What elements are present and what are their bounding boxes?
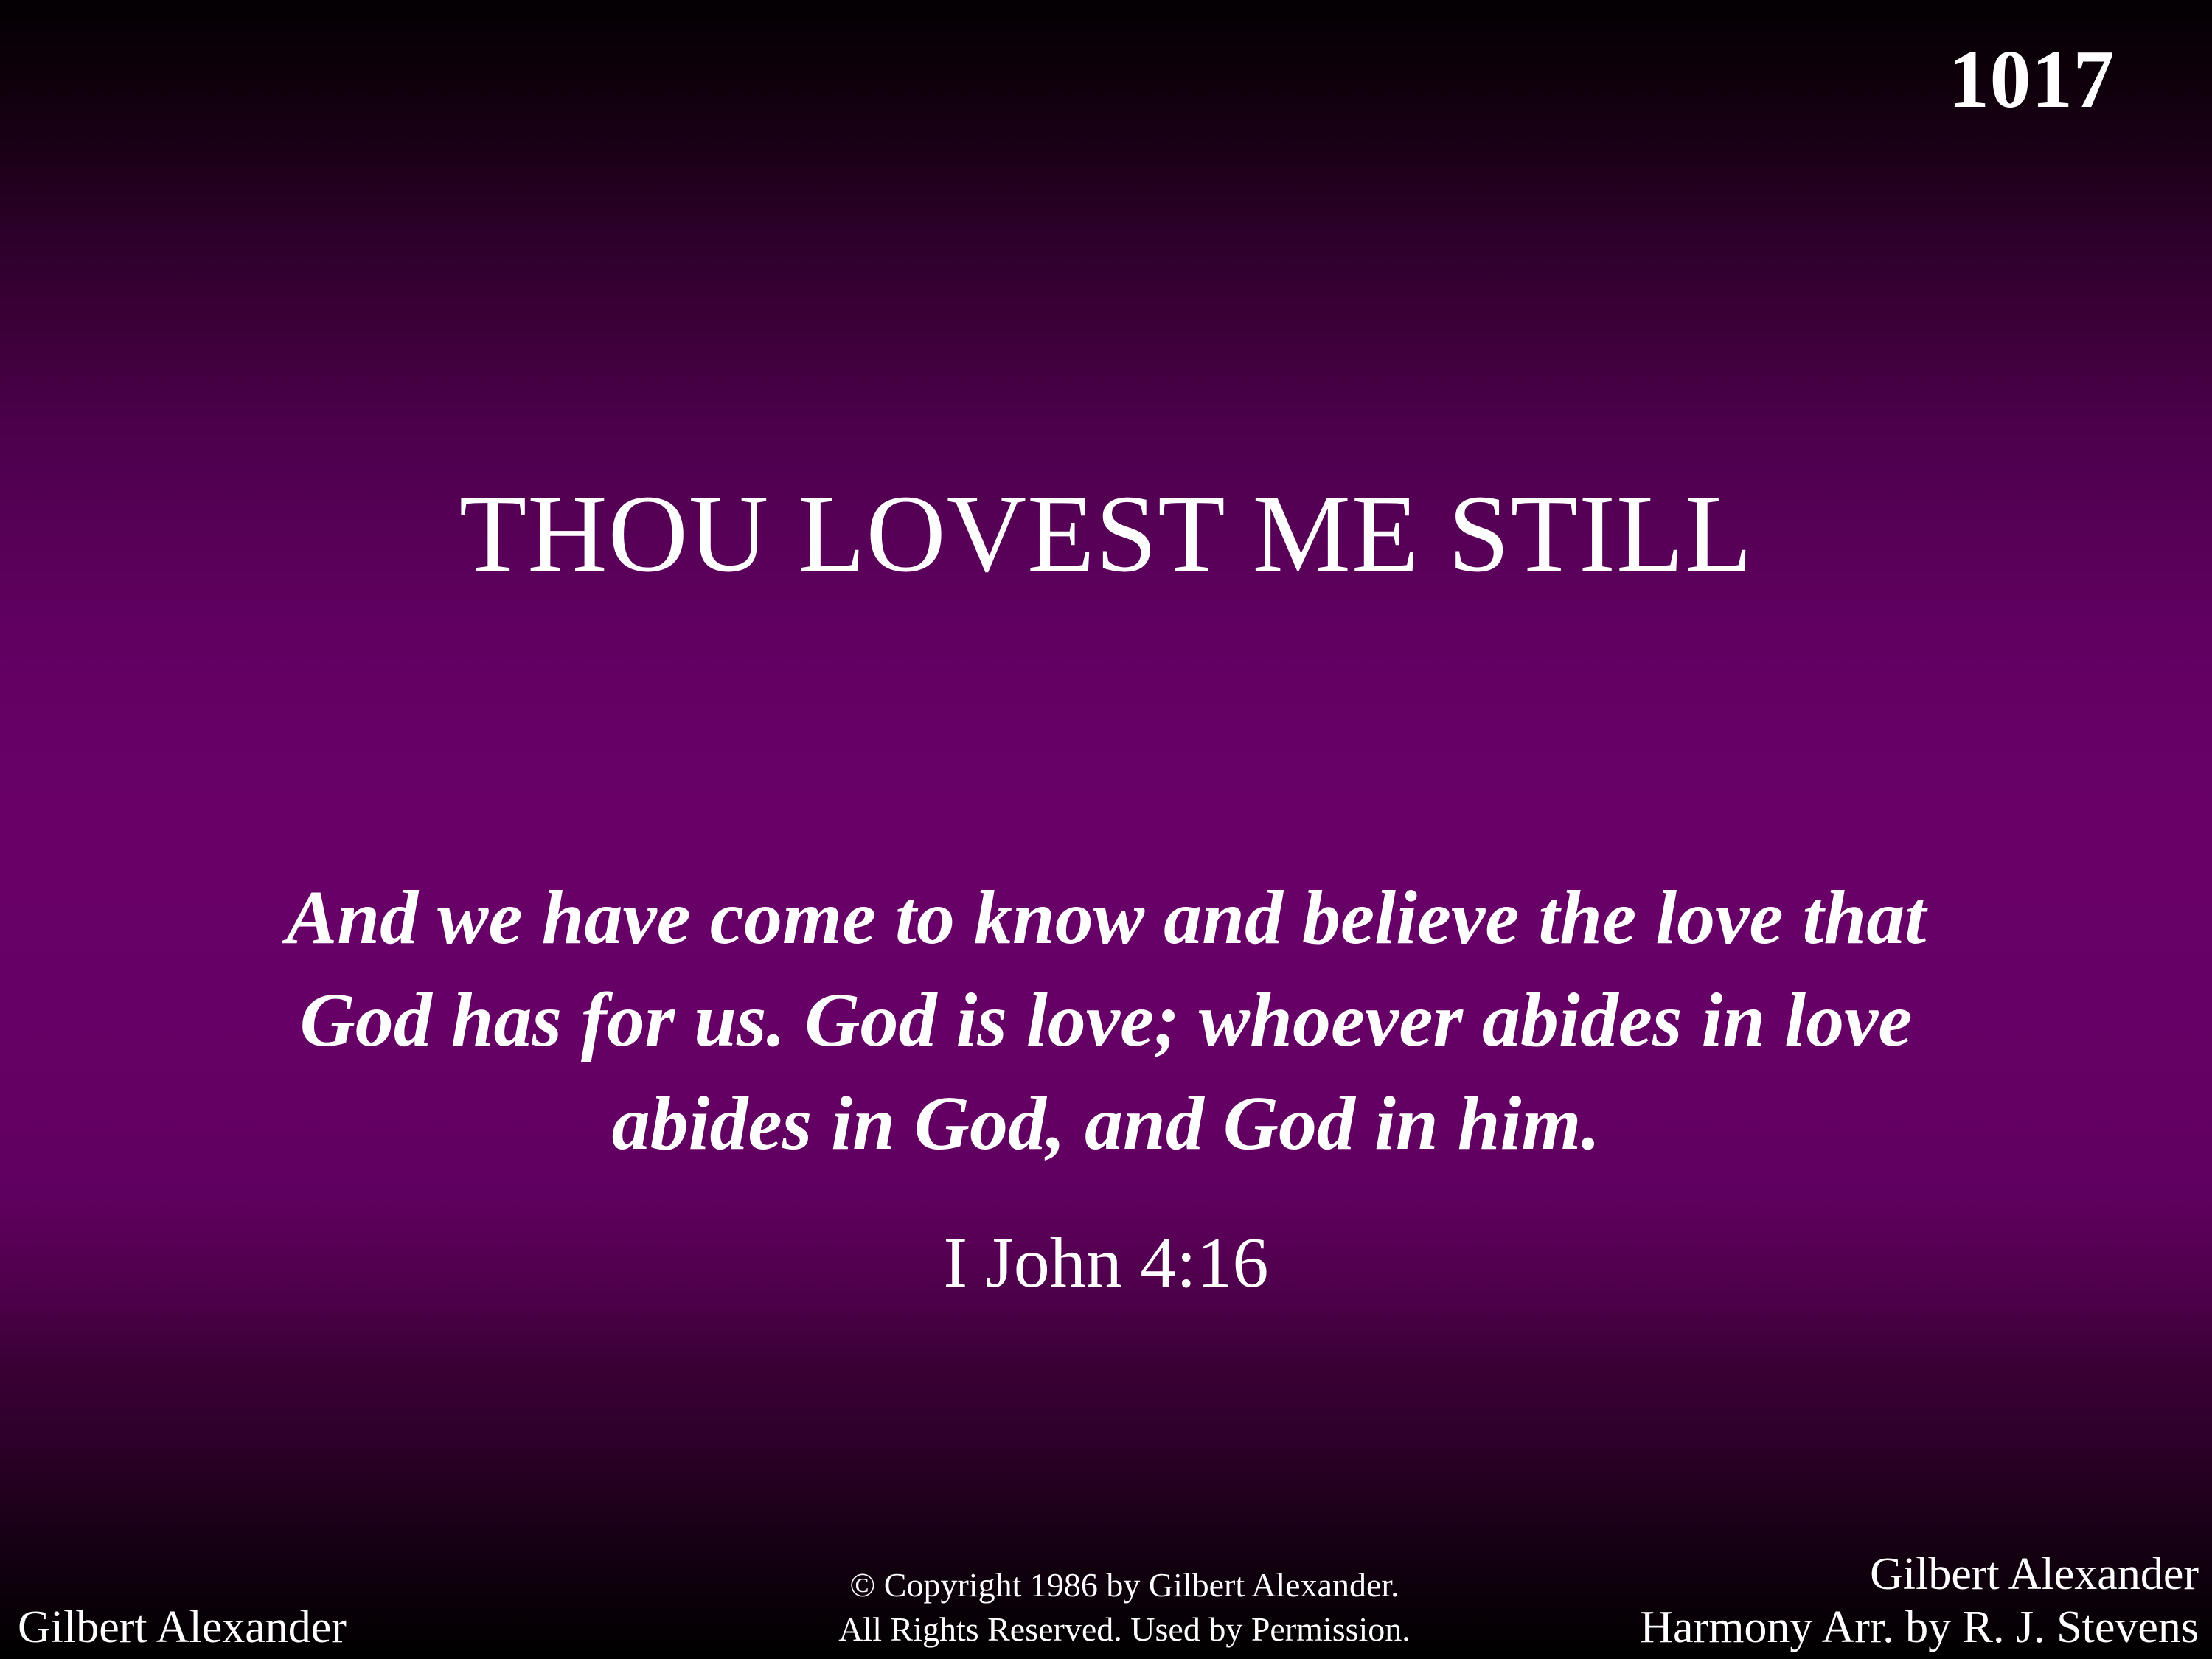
credit-author-left: Gilbert Alexander — [18, 1601, 347, 1655]
scripture-line: God has for us. God is love; whoever abi… — [66, 969, 2146, 1071]
scripture-line: And we have come to know and believe the… — [66, 866, 2146, 969]
copyright-notice: © Copyright 1986 by Gilbert Alexander. A… — [782, 1563, 1467, 1652]
hymn-slide: 1017 THOU LOVEST ME STILL And we have co… — [0, 0, 2212, 1659]
song-number: 1017 — [1948, 38, 2115, 121]
credit-bottom-right: Gilbert Alexander Harmony Arr. by R. J. … — [1640, 1548, 2199, 1655]
scripture-line: abides in God, and God in him. — [66, 1072, 2146, 1175]
credit-author-right: Gilbert Alexander — [1640, 1548, 2199, 1601]
copyright-line-1: © Copyright 1986 by Gilbert Alexander. — [782, 1563, 1467, 1607]
credit-bottom-left: Gilbert Alexander — [18, 1601, 347, 1655]
song-title: THOU LOVEST ME STILL — [0, 472, 2212, 596]
scripture-block: And we have come to know and believe the… — [66, 866, 2146, 1175]
credit-arranger: Harmony Arr. by R. J. Stevens — [1640, 1601, 2199, 1655]
copyright-line-2: All Rights Reserved. Used by Permission. — [782, 1607, 1467, 1652]
scripture-reference: I John 4:16 — [0, 1220, 2212, 1307]
